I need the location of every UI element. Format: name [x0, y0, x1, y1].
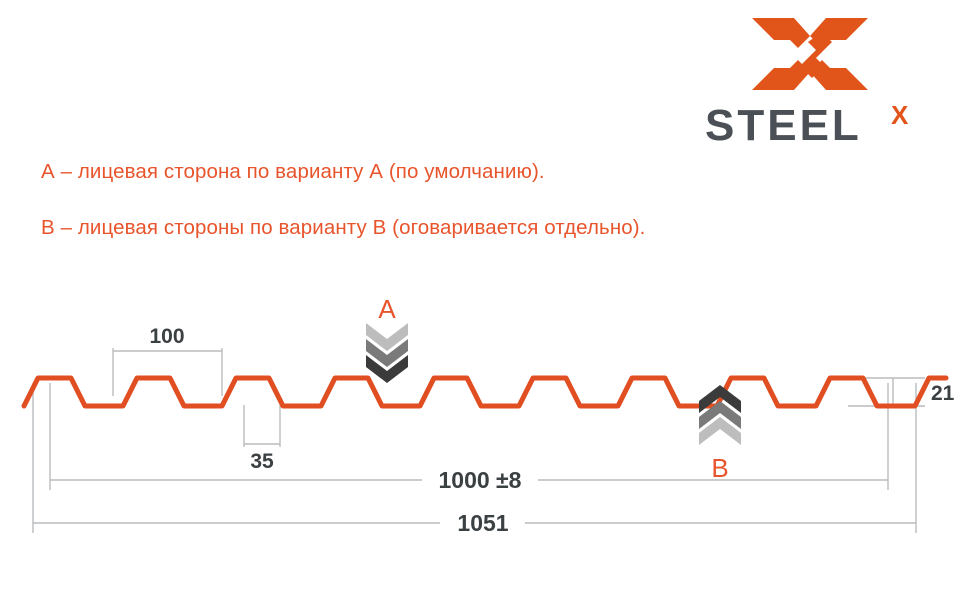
- profile-technical-drawing: 100 35 21 1000 ±8 1051 А: [0, 265, 970, 565]
- sheet-profile-path: [24, 378, 946, 406]
- drawing-canvas: STEEL X А – лицевая сторона по варианту …: [0, 0, 970, 593]
- chevron-up-triple-icon: [699, 385, 741, 445]
- brand-name: STEEL: [705, 102, 862, 148]
- marker-b-letter: В: [711, 453, 728, 483]
- brand-logo: STEEL X: [705, 14, 935, 146]
- steelx-x-logo-icon: [750, 14, 870, 94]
- dimension-label-working-width: 1000 ±8: [439, 467, 522, 493]
- dimension-label-valley-width: 35: [250, 450, 274, 473]
- chevron-down-triple-icon: [366, 323, 408, 383]
- dimension-label-pitch: 100: [149, 325, 184, 348]
- brand-wordmark: STEEL X: [705, 102, 935, 148]
- marker-a-letter: А: [378, 294, 396, 324]
- marker-side-a: А: [366, 294, 408, 383]
- dimension-label-overall-width: 1051: [457, 510, 508, 536]
- brand-superscript: X: [891, 102, 909, 130]
- note-variant-b: В – лицевая стороны по варианту В (огова…: [41, 216, 645, 240]
- dimension-label-height: 21: [931, 382, 955, 405]
- note-variant-a: А – лицевая сторона по варианту А (по ум…: [41, 160, 545, 184]
- dimension-overall-width: 1051: [33, 510, 916, 536]
- dimension-working-width: 1000 ±8: [50, 467, 888, 493]
